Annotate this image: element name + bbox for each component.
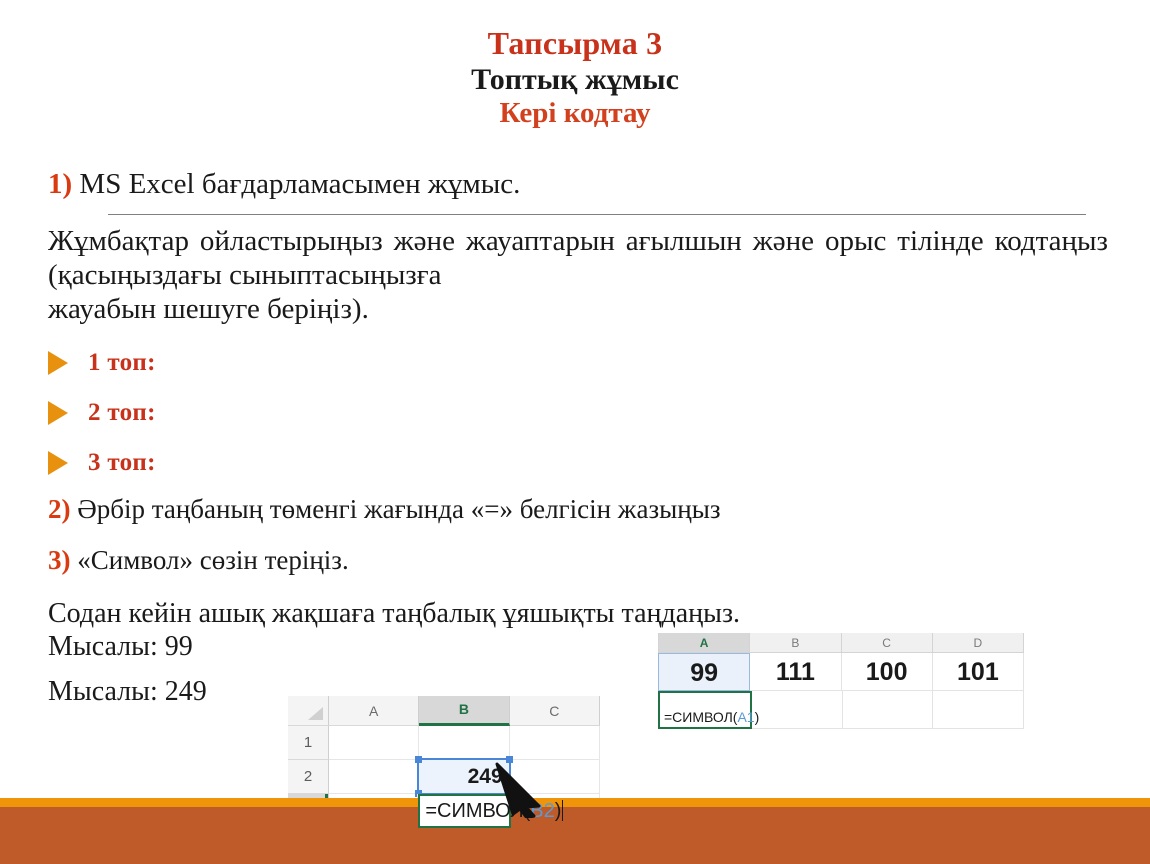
column-header-row: A B C: [288, 696, 600, 726]
table-row: 2 249: [288, 760, 600, 794]
list-item[interactable]: 2 топ:: [48, 388, 548, 438]
cell-b3-formula-editor[interactable]: =СИМВОЛ(B2): [418, 794, 510, 828]
cell-d2[interactable]: [933, 691, 1024, 729]
cell-c1[interactable]: 100: [842, 653, 933, 691]
footer-stripe: [0, 798, 1150, 807]
column-header-c[interactable]: C: [842, 633, 933, 653]
cell-c1[interactable]: [510, 726, 600, 760]
item-3-text: «Символ» сөзін теріңіз.: [77, 545, 348, 575]
row-gutter: [648, 691, 658, 729]
column-header-a[interactable]: A: [659, 633, 750, 653]
group-bullet-list: 1 топ: 2 топ: 3 топ:: [48, 338, 548, 488]
item-3-number: 3): [48, 545, 71, 575]
cell-d1[interactable]: 101: [933, 653, 1024, 691]
formula-ref: B2: [530, 800, 554, 822]
slide: Тапсырма 3 Топтық жұмыс Кері кодтау 1) M…: [0, 0, 1150, 864]
column-header-b[interactable]: B: [750, 633, 841, 653]
paragraph-2: Содан кейін ашық жақшаға таңбалық ұяшықт…: [48, 598, 1108, 630]
item-1-line: 1) MS Excel бағдарламасымен жұмыс.: [48, 166, 1108, 202]
item-1-number: 1): [48, 168, 72, 200]
table-row: =СИМВОЛ(A1): [648, 691, 1024, 729]
column-header-c[interactable]: C: [510, 696, 600, 726]
horizontal-divider: [108, 214, 1086, 215]
cell-b2-value: 249: [468, 765, 503, 789]
cell-b2[interactable]: [752, 691, 843, 729]
cell-b1[interactable]: [419, 726, 509, 760]
triangle-bullet-icon: [48, 401, 68, 425]
cell-c2[interactable]: [843, 691, 934, 729]
corner-triangle-icon: [308, 707, 323, 720]
item-2-line: 2) Әрбір таңбаның төменгі жағында «=» бе…: [48, 494, 721, 525]
cell-a1[interactable]: 99: [658, 653, 750, 691]
title-line-3: Кері кодтау: [0, 98, 1150, 129]
list-item[interactable]: 3 топ:: [48, 438, 548, 488]
formula-suffix: ): [555, 800, 562, 822]
row-gutter: [648, 653, 658, 691]
paragraph-1-text: Жұмбақтар ойластырыңыз және жауаптарын а…: [48, 225, 1108, 291]
row-header-2[interactable]: 2: [288, 760, 329, 794]
bullet-label: 1 топ:: [88, 349, 156, 377]
bullet-label: 2 топ:: [88, 399, 156, 427]
column-header-d[interactable]: D: [933, 633, 1024, 653]
paragraph-1-last-line: жауабын шешуге беріңіз).: [48, 292, 1108, 326]
formula-text: =СИМВОЛ(B2): [425, 800, 563, 823]
column-header-a[interactable]: A: [329, 696, 419, 726]
cell-c2[interactable]: [510, 760, 600, 794]
cell-a2[interactable]: [329, 760, 419, 794]
excel-screenshot-top: A B C D 99 111 100 101 =СИМВОЛ(A1): [648, 633, 1024, 729]
slide-title-block: Тапсырма 3 Топтық жұмыс Кері кодтау: [0, 26, 1150, 129]
cell-b2[interactable]: 249: [419, 760, 509, 794]
item-3-line: 3) «Символ» сөзін теріңіз.: [48, 545, 349, 576]
cell-b1[interactable]: 111: [750, 653, 841, 691]
table-row: 99 111 100 101: [648, 653, 1024, 691]
header-corner: [648, 633, 659, 653]
formula-text: =СИМВОЛ(A1): [664, 709, 759, 725]
text-caret: [562, 800, 563, 821]
item-2-text: Әрбір таңбаның төменгі жағында «=» белгі…: [77, 494, 720, 524]
body-area: 1) MS Excel бағдарламасымен жұмыс. Жұмба…: [48, 166, 1108, 202]
example-line-2: Мысалы: 249: [48, 676, 207, 708]
formula-prefix: =СИМВОЛ(: [664, 709, 737, 725]
list-item[interactable]: 1 топ:: [48, 338, 548, 388]
cell-a2-formula[interactable]: =СИМВОЛ(A1): [658, 691, 752, 729]
footer-band: [0, 807, 1150, 864]
column-header-b[interactable]: B: [419, 696, 509, 726]
row-header-1[interactable]: 1: [288, 726, 329, 760]
bullet-label: 3 топ:: [88, 449, 156, 477]
cell-a1[interactable]: [329, 726, 419, 760]
paragraph-1: Жұмбақтар ойластырыңыз және жауаптарын а…: [48, 224, 1108, 327]
select-all-corner[interactable]: [288, 696, 329, 726]
triangle-bullet-icon: [48, 451, 68, 475]
item-2-number: 2): [48, 494, 71, 524]
item-1-text: MS Excel бағдарламасымен жұмыс.: [79, 168, 520, 200]
triangle-bullet-icon: [48, 351, 68, 375]
column-header-row: A B C D: [648, 633, 1024, 653]
title-line-2: Топтық жұмыс: [0, 64, 1150, 96]
title-line-1: Тапсырма 3: [0, 26, 1150, 61]
example-line-1: Мысалы: 99: [48, 631, 193, 663]
formula-prefix: =СИМВОЛ(: [425, 800, 530, 822]
table-row: 1: [288, 726, 600, 760]
